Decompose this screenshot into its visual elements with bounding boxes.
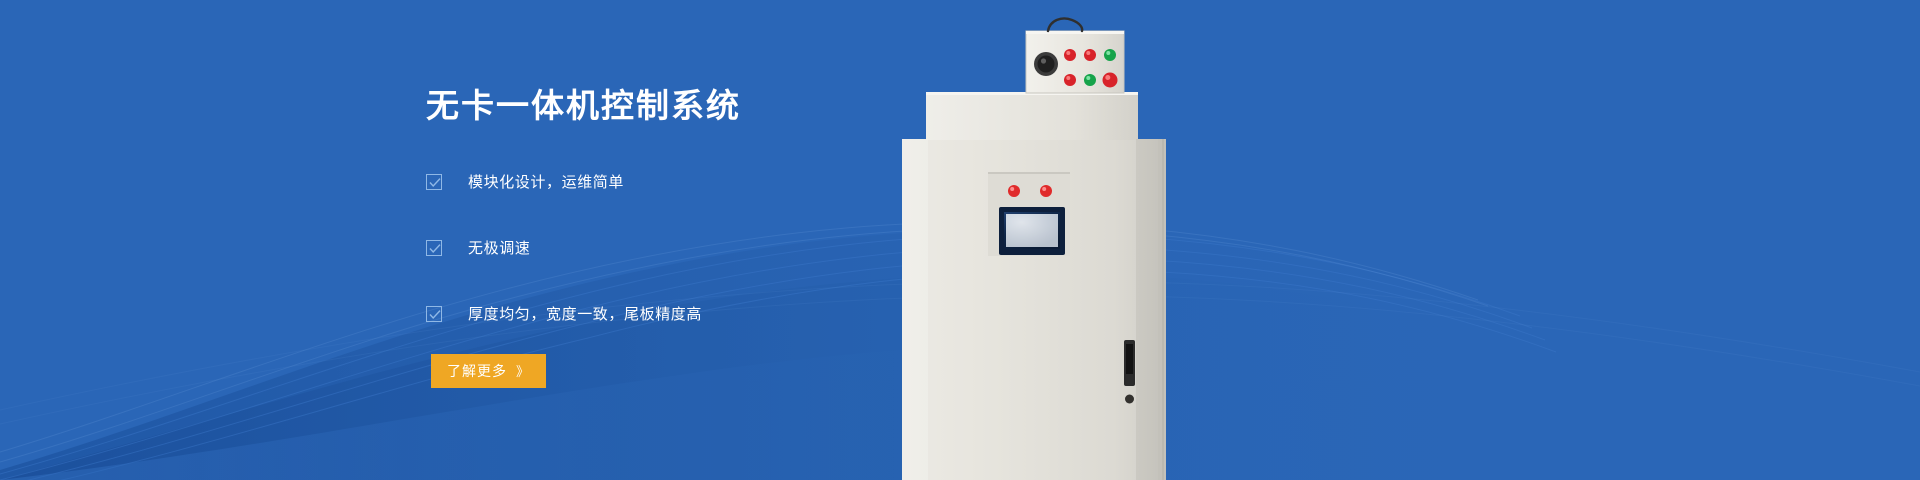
check-square-icon [426, 174, 442, 190]
list-item-label: 厚度均匀，宽度一致，尾板精度高 [468, 307, 702, 322]
double-chevron-right-icon: 》 [516, 361, 530, 380]
control-cabinet-photo [900, 0, 1200, 480]
learn-more-label: 了解更多 [447, 361, 507, 381]
list-item-label: 模块化设计，运维简单 [468, 175, 624, 190]
list-item-label: 无极调速 [468, 241, 530, 256]
hero-banner: 无卡一体机控制系统 模块化设计，运维简单 无极调速 [0, 0, 1920, 480]
check-square-icon [426, 306, 442, 322]
learn-more-button[interactable]: 了解更多 》 [431, 354, 546, 388]
check-square-icon [426, 240, 442, 256]
